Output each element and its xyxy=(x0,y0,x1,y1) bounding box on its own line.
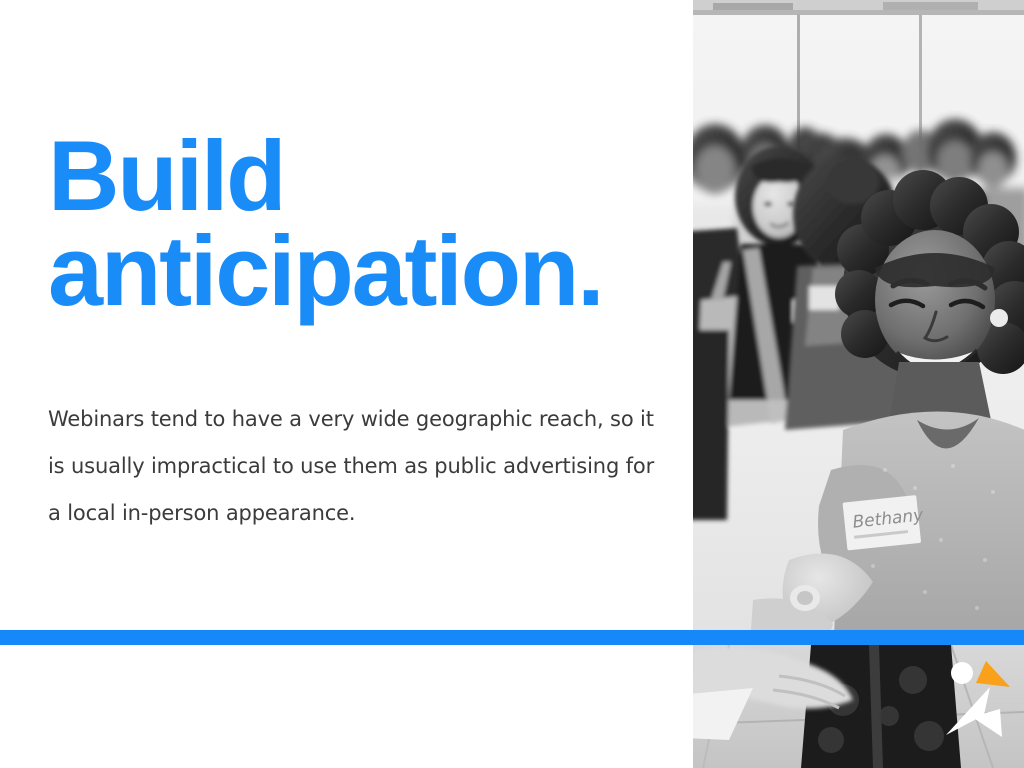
person-arrow-logo xyxy=(940,657,1014,741)
accent-divider-bar xyxy=(0,630,1024,645)
text-column: Build anticipation. Webinars tend to hav… xyxy=(48,0,668,768)
body-paragraph: Webinars tend to have a very wide geogra… xyxy=(48,396,660,537)
slide: Bethany xyxy=(0,0,1024,768)
logo-accent-triangle xyxy=(976,661,1010,687)
logo-head-circle xyxy=(951,662,973,684)
page-title: Build anticipation. xyxy=(48,128,602,318)
logo-swoosh-shape xyxy=(946,687,990,735)
event-photo: Bethany xyxy=(693,0,1024,768)
